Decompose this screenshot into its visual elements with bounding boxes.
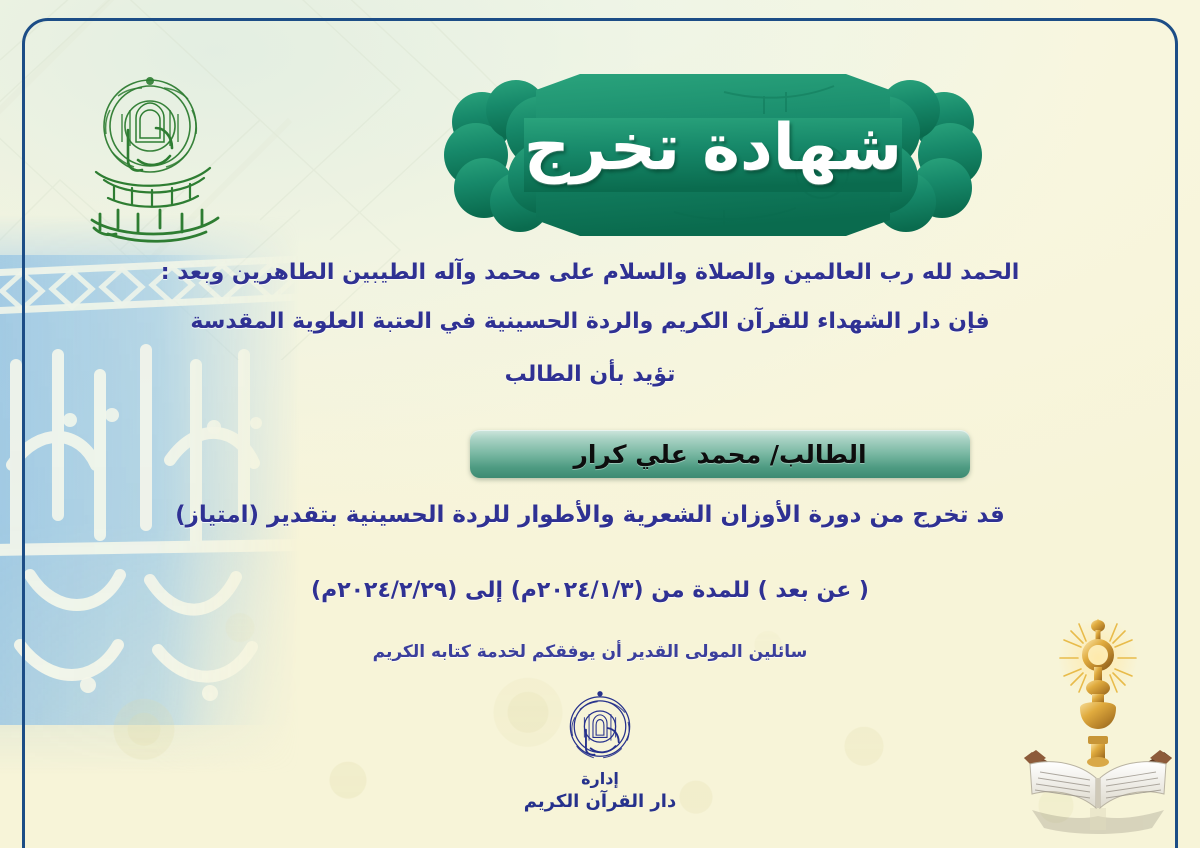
alawi-shrine-seal-logo-icon bbox=[78, 68, 228, 248]
title-banner: شهادة تخرج bbox=[424, 62, 1002, 248]
body-line-praise: الحمد لله رب العالمين والصلاة والسلام عل… bbox=[150, 256, 1030, 289]
student-name-plate: الطالب/ محمد علي كرار bbox=[470, 430, 970, 478]
student-name-plate-bg: الطالب/ محمد علي كرار bbox=[470, 430, 970, 478]
certificate-page: شهادة تخرج الحمد لله رب العالمين والصلاة… bbox=[0, 0, 1200, 848]
certificate-title: شهادة تخرج bbox=[424, 62, 1002, 248]
student-name: الطالب/ محمد علي كرار bbox=[573, 440, 866, 469]
body-line-certifies: تؤيد بأن الطالب bbox=[150, 358, 1030, 391]
quran-on-rehal-decoration-icon bbox=[1002, 612, 1192, 842]
closing-line: سائلين المولى القدير أن يوفقكم لخدمة كتا… bbox=[150, 642, 1030, 662]
circular-calligraphy-seal-icon bbox=[561, 686, 639, 764]
certificate-body: الحمد لله رب العالمين والصلاة والسلام عل… bbox=[150, 256, 1030, 405]
achievement-line: قد تخرج من دورة الأوزان الشعرية والأطوار… bbox=[150, 502, 1030, 528]
body-line-institution: فإن دار الشهداء للقرآن الكريم والردة الح… bbox=[150, 305, 1030, 338]
duration-line: ( عن بعد ) للمدة من (٢٠٢٤/١/٣م) إلى (٢٠٢… bbox=[150, 578, 1030, 603]
